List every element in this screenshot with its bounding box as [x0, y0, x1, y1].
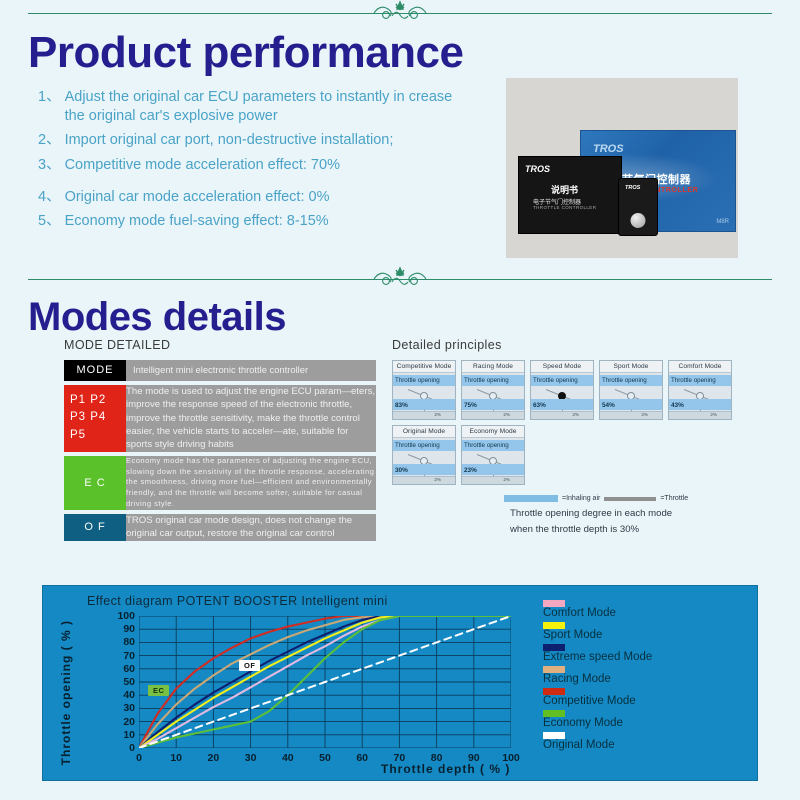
chart-x-tick: 0: [136, 752, 142, 764]
chart-y-ticks: 0102030405060708090100: [105, 610, 135, 754]
effect-diagram-chart: Effect diagram POTENT BOOSTER Intelligen…: [42, 585, 758, 781]
list-item-number: 4、: [38, 188, 61, 207]
product-manual-booklet: TROS 说明书 电子节气门控制器 THROTTLE CONTROLLER: [518, 156, 622, 234]
chart-y-tick: 20: [123, 716, 135, 728]
chart-legend-label: Comfort Mode: [543, 607, 652, 619]
product-photo: TROS 电子节气门控制器 THROTTLE CONTROLLER M8R TR…: [506, 78, 738, 258]
principles-legend: =Inhaling air =Throttle: [504, 495, 732, 502]
device-brand-label: TROS: [625, 185, 640, 191]
throttle-opening-label: Throttle opening: [531, 375, 593, 386]
mode-card-footer: 2%: [462, 411, 524, 419]
mode-card: Economy Mode Throttle opening 23% 2%: [461, 425, 525, 485]
mode-card-tick: 2%: [503, 477, 510, 482]
mode-cards-row-2: Original Mode Throttle opening 30% 2%: [392, 425, 732, 485]
chart-y-tick: 100: [117, 610, 135, 622]
chart-y-tick: 90: [123, 623, 135, 635]
chart-legend: Comfort ModeSport ModeExtreme speed Mode…: [543, 600, 652, 754]
performance-section: 1、 Adjust the original car ECU parameter…: [0, 76, 800, 266]
inhaling-air-swatch: [504, 495, 558, 502]
chart-legend-swatch: [543, 666, 565, 673]
chart-legend-item: Original Mode: [543, 732, 652, 751]
mode-key-cell: O F: [64, 514, 126, 541]
mode-card-percent: 30%: [395, 467, 408, 474]
chart-legend-swatch: [543, 622, 565, 629]
mode-card-body: Throttle opening 30% 2%: [393, 438, 455, 484]
chart-y-tick: 40: [123, 689, 135, 701]
table-row: MODE Intelligent mini electronic throttl…: [64, 360, 376, 381]
list-item-number: 3、: [38, 156, 61, 175]
list-item: 5、 Economy mode fuel-saving effect: 8-15…: [38, 212, 468, 231]
mode-key-cell: E C: [64, 456, 126, 510]
chart-legend-item: Racing Mode: [543, 666, 652, 685]
list-item-number: 2、: [38, 131, 61, 150]
mode-card: Sport Mode Throttle opening 54% 2%: [599, 360, 663, 420]
list-item-text: Economy mode fuel-saving effect: 8-15%: [65, 212, 329, 231]
throttle-opening-label: Throttle opening: [462, 375, 524, 386]
mode-card-tick: 2%: [503, 412, 510, 417]
mode-card: Comfort Mode Throttle opening 43% 2%: [668, 360, 732, 420]
chart-x-tick: 40: [282, 752, 294, 764]
ornament-icon: [334, 0, 466, 26]
throttle-opening-label: Throttle opening: [669, 375, 731, 386]
list-item: 2、 Import original car port, non-destruc…: [38, 131, 468, 150]
list-item-text: Original car mode acceleration effect: 0…: [65, 188, 330, 207]
mode-card-percent: 23%: [464, 467, 477, 474]
modes-section: MODE DETAILED MODE Intelligent mini elec…: [0, 338, 800, 568]
chart-legend-swatch: [543, 688, 565, 695]
chart-x-tick: 80: [431, 752, 443, 764]
chart-legend-label: Sport Mode: [543, 629, 652, 641]
chart-y-tick: 80: [123, 636, 135, 648]
mode-card-body: Throttle opening 43% 2%: [669, 373, 731, 419]
mode-card-title: Speed Mode: [531, 361, 593, 373]
mode-card-body: Throttle opening 75% 2%: [462, 373, 524, 419]
chart-plot-area: [139, 616, 511, 748]
mode-card-footer: 2%: [600, 411, 662, 419]
chart-y-tick: 30: [123, 702, 135, 714]
list-item-text: Import original car port, non-destructiv…: [65, 131, 394, 150]
divider-top: [0, 0, 800, 26]
mode-card-percent: 75%: [464, 402, 477, 409]
mode-card-title: Original Mode: [393, 426, 455, 438]
table-row: P1 P2 P3 P4 P5 The mode is used to adjus…: [64, 385, 376, 452]
mode-key-cell: MODE: [64, 360, 126, 381]
chart-legend-label: Original Mode: [543, 739, 652, 751]
mode-detailed-panel: MODE DETAILED MODE Intelligent mini elec…: [64, 338, 376, 540]
mode-desc-cell: The mode is used to adjust the engine EC…: [126, 385, 376, 452]
mode-card-footer: 2%: [531, 411, 593, 419]
mode-card-percent: 83%: [395, 402, 408, 409]
device-knob-icon: [631, 213, 646, 228]
mode-card: Racing Mode Throttle opening 75% 2%: [461, 360, 525, 420]
mode-card: Competitive Mode Throttle opening 83% 2%: [392, 360, 456, 420]
chart-legend-swatch: [543, 600, 565, 607]
box-sku-label: M8R: [716, 219, 729, 225]
chart-y-tick: 50: [123, 676, 135, 688]
chart-legend-label: Extreme speed Mode: [543, 651, 652, 663]
chart-x-tick: 30: [245, 752, 257, 764]
mode-card-title: Sport Mode: [600, 361, 662, 373]
mode-card-tick: 2%: [572, 412, 579, 417]
page-title-performance: Product performance: [0, 30, 800, 76]
product-infographic-page: Product performance 1、 Adjust the origin…: [0, 0, 800, 800]
mode-card-tick: 2%: [641, 412, 648, 417]
detailed-principles-panel: Detailed principles Competitive Mode Thr…: [392, 338, 732, 538]
throttle-swatch: [604, 497, 656, 501]
chart-x-ticks: 0102030405060708090100: [139, 752, 511, 768]
list-item-text: Competitive mode acceleration effect: 70…: [65, 156, 340, 175]
mode-card-footer: 2%: [669, 411, 731, 419]
mode-card-footer: 2%: [462, 476, 524, 484]
mode-card-body: Throttle opening 54% 2%: [600, 373, 662, 419]
mode-key-cell: P1 P2 P3 P4 P5: [64, 385, 126, 452]
list-item: 4、 Original car mode acceleration effect…: [38, 188, 468, 207]
chart-x-tick: 70: [394, 752, 406, 764]
chart-legend-label: Competitive Mode: [543, 695, 652, 707]
chart-legend-swatch: [543, 732, 565, 739]
inhaling-air-label: =Inhaling air: [562, 495, 600, 502]
throttle-opening-label: Throttle opening: [393, 440, 455, 451]
chart-x-tick: 10: [170, 752, 182, 764]
detailed-principles-label: Detailed principles: [392, 338, 732, 352]
mode-card: Speed Mode Throttle opening 63% 2%: [530, 360, 594, 420]
throttle-label: =Throttle: [660, 495, 688, 502]
manual-chinese-label: 说明书: [551, 183, 578, 196]
throttle-opening-label: Throttle opening: [393, 375, 455, 386]
chart-x-tick: 20: [208, 752, 220, 764]
chart-legend-item: Extreme speed Mode: [543, 644, 652, 663]
mode-card-percent: 43%: [671, 402, 684, 409]
mode-card: Original Mode Throttle opening 30% 2%: [392, 425, 456, 485]
mode-desc-cell: Economy mode has the parameters of adjus…: [126, 456, 376, 510]
mode-card-title: Economy Mode: [462, 426, 524, 438]
mode-card-tick: 2%: [434, 412, 441, 417]
chart-x-tick: 50: [319, 752, 331, 764]
page-title-modes: Modes details: [0, 296, 800, 338]
mode-card-tick: 2%: [710, 412, 717, 417]
chart-legend-item: Sport Mode: [543, 622, 652, 641]
list-item-text: Adjust the original car ECU parameters t…: [65, 88, 468, 126]
mode-cards-row-1: Competitive Mode Throttle opening 83% 2%: [392, 360, 732, 420]
chart-legend-item: Competitive Mode: [543, 688, 652, 707]
chart-legend-swatch: [543, 710, 565, 717]
ornament-icon: [334, 266, 466, 292]
chart-legend-swatch: [543, 644, 565, 651]
chart-title: Effect diagram POTENT BOOSTER Intelligen…: [87, 594, 388, 608]
mode-card-footer: 2%: [393, 411, 455, 419]
chart-legend-label: Racing Mode: [543, 673, 652, 685]
mode-card-title: Competitive Mode: [393, 361, 455, 373]
chart-legend-label: Economy Mode: [543, 717, 652, 729]
mode-card-percent: 63%: [533, 402, 546, 409]
box-brand-label: TROS: [593, 143, 624, 155]
divider-modes: [0, 266, 800, 292]
mode-detailed-label: MODE DETAILED: [64, 338, 376, 352]
chart-x-tick: 60: [356, 752, 368, 764]
list-item-number: 1、: [38, 88, 61, 126]
chart-y-tick: 10: [123, 729, 135, 741]
manual-brand-label: TROS: [525, 164, 550, 174]
chart-legend-item: Economy Mode: [543, 710, 652, 729]
mode-card-title: Racing Mode: [462, 361, 524, 373]
mode-card-footer: 2%: [393, 476, 455, 484]
mode-card-percent: 54%: [602, 402, 615, 409]
chart-annotation-of: OF: [239, 660, 260, 671]
mode-card-title: Comfort Mode: [669, 361, 731, 373]
chart-y-tick: 0: [129, 742, 135, 754]
manual-subtitle-en-label: THROTTLE CONTROLLER: [533, 205, 596, 210]
throttle-opening-label: Throttle opening: [462, 440, 524, 451]
chart-x-tick: 90: [468, 752, 480, 764]
chart-x-tick: 100: [502, 752, 520, 764]
product-device-unit: TROS: [618, 178, 658, 236]
table-row: E C Economy mode has the parameters of a…: [64, 456, 376, 510]
chart-y-axis-label: Throttle opening ( % ): [59, 620, 73, 765]
mode-card-body: Throttle opening 63% 2%: [531, 373, 593, 419]
principles-note-line-1: Throttle opening degree in each mode: [510, 507, 732, 522]
chart-y-tick: 70: [123, 650, 135, 662]
principles-note-line-2: when the throttle depth is 30%: [510, 523, 732, 538]
list-item: 3、 Competitive mode acceleration effect:…: [38, 156, 468, 175]
mode-desc-cell: Intelligent mini electronic throttle con…: [126, 360, 376, 381]
mode-card-tick: 2%: [434, 477, 441, 482]
mode-card-body: Throttle opening 83% 2%: [393, 373, 455, 419]
list-item: 1、 Adjust the original car ECU parameter…: [38, 88, 468, 126]
list-item-number: 5、: [38, 212, 61, 231]
throttle-opening-label: Throttle opening: [600, 375, 662, 386]
table-row: O F TROS original car mode design, does …: [64, 514, 376, 541]
chart-y-tick: 60: [123, 663, 135, 675]
chart-annotation-ec: EC: [148, 685, 169, 696]
mode-desc-cell: TROS original car mode design, does not …: [126, 514, 376, 541]
chart-legend-item: Comfort Mode: [543, 600, 652, 619]
mode-card-body: Throttle opening 23% 2%: [462, 438, 524, 484]
mode-table: MODE Intelligent mini electronic throttl…: [64, 360, 376, 540]
